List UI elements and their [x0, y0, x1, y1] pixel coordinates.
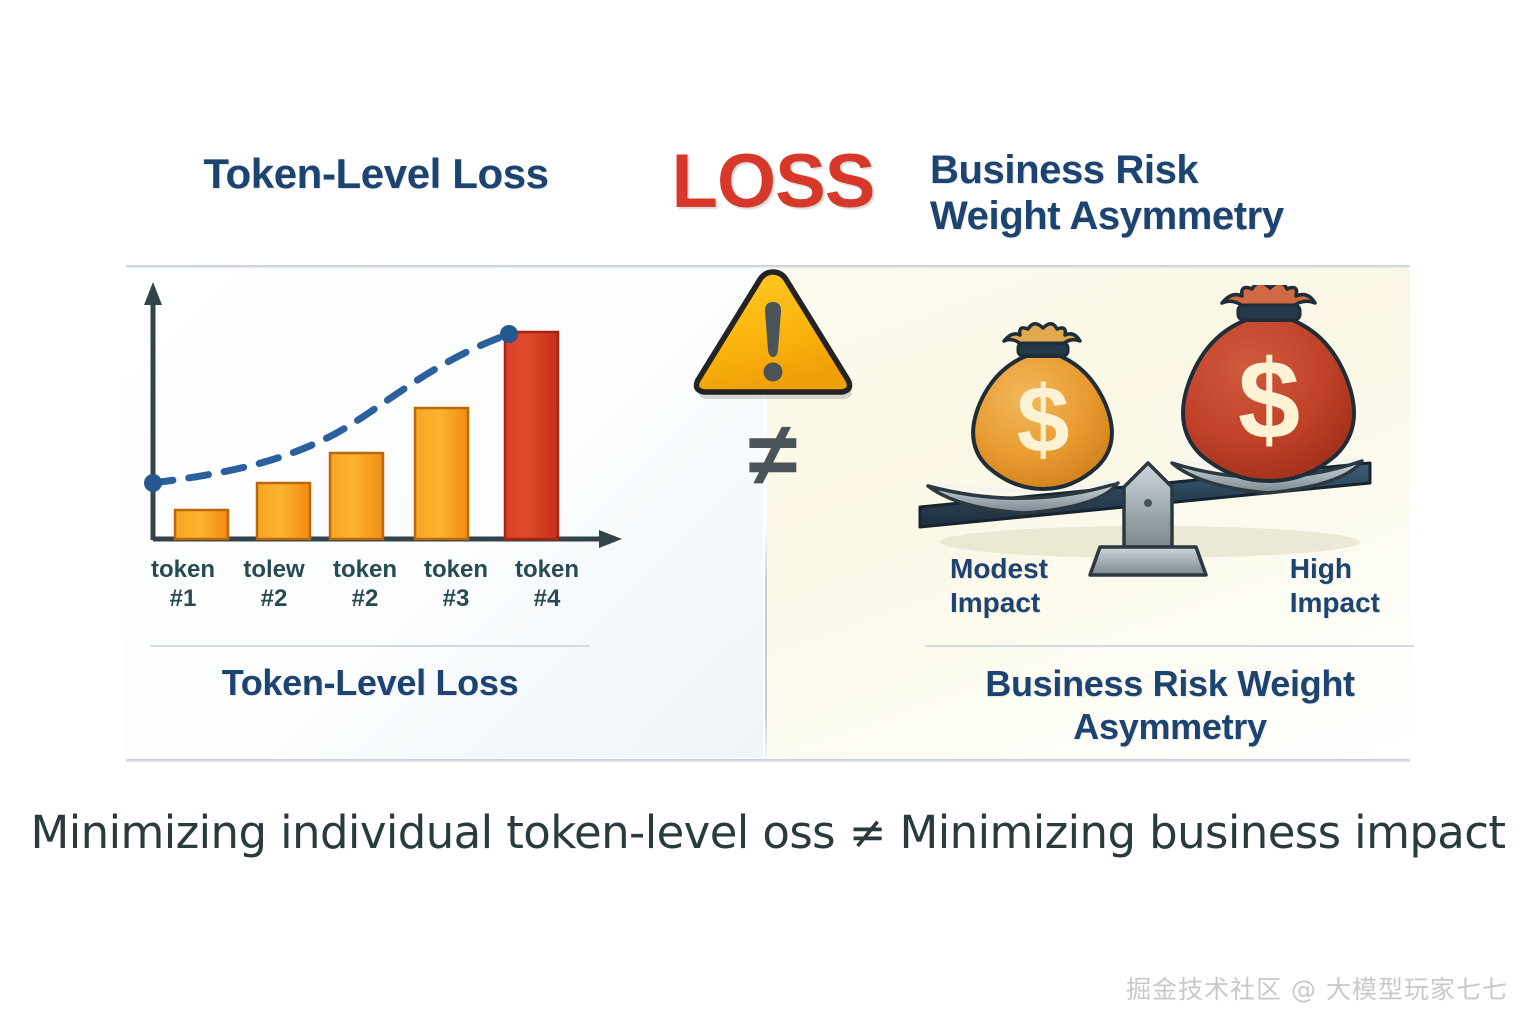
bar-group [175, 332, 558, 539]
right-header-line2: Weight Asymmetry [930, 194, 1400, 240]
not-equal-symbol-center: ≠ [682, 410, 864, 500]
bar-2 [257, 483, 310, 539]
impact-labels-row: Modest Impact High Impact [925, 552, 1415, 632]
high-impact-line1: High [1290, 552, 1380, 586]
money-bag-modest: $ [973, 324, 1112, 489]
dollar-sign-high: $ [1238, 337, 1300, 462]
token-loss-bar-chart [126, 268, 636, 558]
tick-1-word: token [151, 556, 215, 583]
balance-scale-illustration: $ $ [900, 285, 1390, 585]
trend-end-marker [500, 325, 518, 343]
trend-start-marker [144, 474, 162, 492]
left-caption-divider [150, 645, 590, 647]
tick-label-5: token #4 [504, 556, 590, 632]
bar-4 [415, 408, 468, 539]
bar-1 [175, 510, 228, 539]
watermark: 掘金技术社区 @ 大模型玩家七七 [1126, 970, 1508, 1006]
bar-chart-tick-labels: token #1 tolew #2 token #2 token #3 toke… [140, 556, 590, 632]
right-caption-divider [925, 645, 1415, 647]
tick-1-index: #1 [140, 585, 226, 614]
tick-label-2: tolew #2 [231, 556, 317, 632]
modest-impact-label: Modest Impact [950, 552, 1048, 620]
tick-3-word: token [333, 556, 397, 583]
tick-5-word: token [515, 556, 579, 583]
tick-5-index: #4 [504, 585, 590, 614]
high-impact-line2: Impact [1290, 586, 1380, 620]
money-bag-high: $ [1183, 285, 1354, 481]
tick-4-index: #3 [413, 585, 499, 614]
bottom-divider [126, 759, 1410, 762]
tick-3-index: #2 [322, 585, 408, 614]
right-caption-line1: Business Risk Weight [925, 662, 1415, 705]
exclamation-dot [764, 363, 783, 382]
tick-label-1: token #1 [140, 556, 226, 632]
tick-label-3: token #2 [322, 556, 408, 632]
infographic-root: Token-Level Loss LOSS Business Risk Weig… [0, 0, 1536, 1024]
bar-3 [330, 453, 383, 539]
right-panel-caption: Business Risk Weight Asymmetry [925, 662, 1415, 748]
summary-statement: Minimizing individual token-level oss ≠ … [0, 806, 1536, 859]
warning-triangle-icon [682, 258, 864, 408]
right-header-title: Business Risk Weight Asymmetry [930, 148, 1400, 239]
left-panel-caption: Token-Level Loss [150, 662, 590, 704]
tick-4-word: token [424, 556, 488, 583]
tick-label-4: token #3 [413, 556, 499, 632]
dollar-sign-modest: $ [1017, 367, 1070, 473]
high-impact-label: High Impact [1290, 552, 1380, 620]
left-header-title: Token-Level Loss [126, 150, 626, 198]
y-axis [144, 282, 162, 540]
modest-impact-line2: Impact [950, 586, 1048, 620]
center-vertical-divider [765, 525, 767, 757]
tick-2-index: #2 [231, 585, 317, 614]
modest-impact-line1: Modest [950, 552, 1048, 586]
right-caption-line2: Asymmetry [925, 705, 1415, 748]
bar-5-highlight [505, 332, 558, 539]
right-header-line1: Business Risk [930, 148, 1400, 194]
loss-headline: LOSS [628, 138, 918, 225]
tick-2-word: tolew [243, 556, 304, 583]
